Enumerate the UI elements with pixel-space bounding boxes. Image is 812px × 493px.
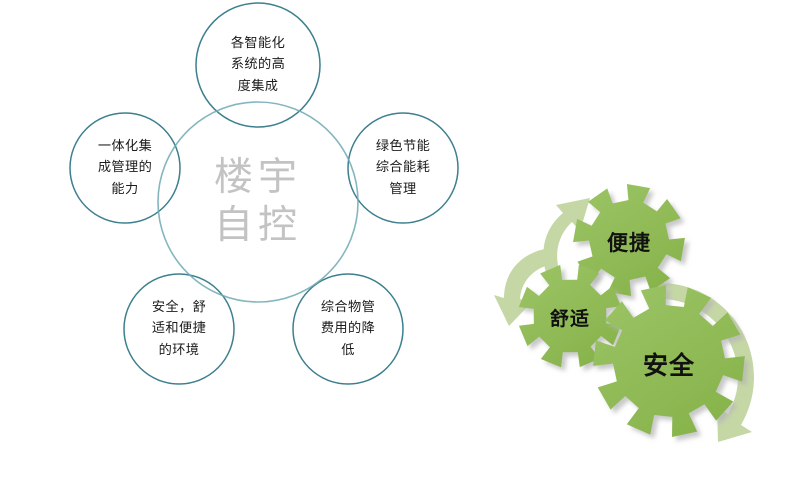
venn-circle-property-cost[interactable] (293, 274, 403, 384)
venn-circle-green-energy[interactable] (348, 113, 458, 223)
venn-circle-center[interactable] (158, 102, 358, 302)
diagram-canvas: 各智能化 系统的高 度集成绿色节能 综合能耗 管理综合物管 费用的降 低安全，舒… (0, 0, 812, 493)
venn-circle-safe-comfort[interactable] (124, 274, 234, 384)
venn-circle-integration-degree[interactable] (196, 3, 320, 127)
diagram-shapes (0, 0, 812, 493)
venn-diagram-group (70, 3, 458, 384)
